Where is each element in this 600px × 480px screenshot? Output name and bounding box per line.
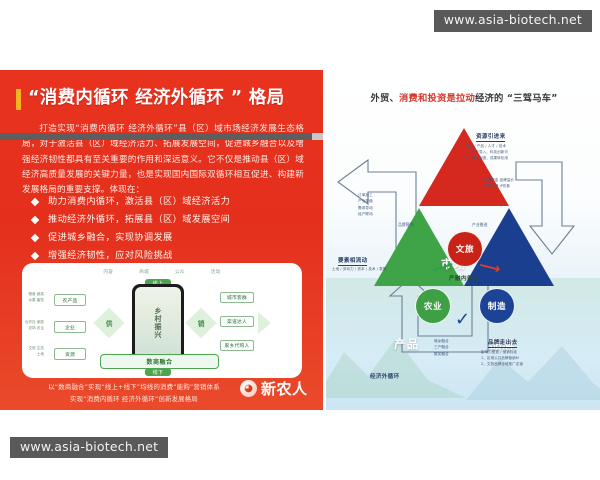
list-item-label: 促进城乡融合，实现协调发展: [48, 232, 173, 243]
headline-highlight: 消费和投资是拉动: [399, 93, 475, 104]
diagram-left-tag: 文旅 生态 土地: [24, 346, 44, 357]
diagram-tab: 公众: [175, 269, 185, 275]
diamond-bullet-icon: [31, 215, 39, 223]
page-title: “消费内循环 经济外循环 ” 格局: [28, 90, 284, 108]
list-item: 推动经济外循环，拓展县（区）域发展空间: [32, 214, 312, 225]
diagram-left-tag: 合作社 家庭 农场 农企: [24, 320, 44, 331]
phone-mockup: 乡村振兴: [132, 284, 184, 362]
diagram-left-box: 资源: [54, 348, 86, 360]
diagram-tab: 内容: [103, 269, 113, 275]
left-red-slide-panel: “消费内循环 经济外循环 ” 格局 打造实现“消费内循环 经济外循环”县（区）域…: [0, 70, 323, 410]
supply-demand-diagram-card: 内容 商城 公众 活动 粮食 蔬菜 水果 畜牧 合作社 家庭 农场 农企 文旅 …: [22, 263, 302, 378]
integration-banner: 数商融合: [100, 354, 219, 369]
annotation-product-push: 产业推进: [472, 222, 488, 229]
phone-screen: 乡村振兴: [135, 287, 181, 359]
watermark-top: www.asia-biotech.net: [434, 10, 592, 32]
node-agriculture: 农业: [415, 288, 451, 324]
annotation-brand-values: 金融资金 品牌溢价 品质品牌 IP形象: [484, 178, 586, 190]
diagram-tab-row: 内容 商城 公众 活动: [22, 267, 302, 276]
diamond-bullet-icon: [31, 251, 39, 259]
offline-pill: 线下: [145, 368, 171, 376]
diagram-left-tag: 粮食 蔬菜 水果 畜牧: [24, 292, 44, 303]
diamond-bullet-icon: [31, 233, 39, 241]
weibo-icon: ◕: [240, 380, 257, 397]
diagram-left-box: 农产品: [54, 294, 86, 306]
annotation-brand-out-sub: 影响力塑造 / 营销标准 1、区域公共品牌营销M 2、文旅品牌全域推广定销: [481, 350, 593, 368]
node-manufacturing: 制造: [479, 288, 515, 324]
diagram-right-box: 家乡代购人: [220, 340, 254, 351]
center-label-internal-circulation: 产融内循环: [430, 274, 498, 282]
annotation-resource-in-sub: 清水 / 产品 / 人才 / 技术 1、产业导入、科技创新可 2、结业制造、成果…: [466, 144, 586, 162]
footer-caption: 以“数商融合”实现“线上+线下”均线的消费“能购”营销体系 实现“消费内循环 经…: [20, 382, 248, 406]
diagram-right-box: 城市客群: [220, 292, 254, 303]
headline-part-1: 外贸、: [370, 93, 399, 104]
demand-node: 销: [185, 307, 216, 338]
annotation-order-chain: 订单加工 产业增值 需求导动 经产联动: [358, 192, 388, 218]
demand-label: 销: [198, 318, 205, 328]
annotation-urban-rural: 城乡融合 三产融合 数实融合: [434, 338, 464, 357]
list-item-label: 推动经济外循环，拓展县（区）域发展空间: [48, 214, 230, 225]
triangle-label-product: 产品: [394, 336, 419, 352]
headline-part-2: 经济的 “三驾马车”: [475, 93, 558, 104]
diagram-tab: 活动: [211, 269, 221, 275]
supply-node: 供: [93, 307, 124, 338]
integration-label: 数商融合: [146, 357, 172, 366]
blue-check-arrow-icon: ✓: [455, 311, 470, 329]
list-item-label: 增强经济韧性，应对风险挑战: [48, 250, 173, 261]
flow-arrow-icon: [258, 312, 271, 334]
footer-caption-line1: 以“数商融合”实现“线上+线下”均线的消费“能购”营销体系: [20, 382, 248, 394]
weibo-brand-badge: ◕ 新农人: [240, 378, 308, 399]
node-culture-tourism: 文旅: [447, 231, 483, 267]
bullet-list: 助力消费内循环，激活县（区）域经济活力 推动经济外循环，拓展县（区）域发展空间 …: [32, 196, 312, 268]
list-item-label: 助力消费内循环，激活县（区）域经济活力: [48, 196, 230, 207]
footer-caption-line2: 实现“消费内循环 经济外循环”创新发展格局: [20, 394, 248, 406]
right-panel-headline: 外贸、消费和投资是拉动经济的 “三驾马车”: [338, 90, 590, 104]
list-item: 促进城乡融合，实现协调发展: [32, 232, 312, 243]
right-infographic-panel: 外贸、消费和投资是拉动经济的 “三驾马车” 市场 产品 品牌 ⟶ ⟶ ✓ 文旅: [326, 70, 600, 410]
phone-screen-text: 乡村振兴: [153, 307, 163, 339]
diamond-bullet-icon: [31, 197, 39, 205]
panel-top-gray-strip: [0, 133, 312, 140]
watermark-bottom: www.asia-biotech.net: [10, 437, 168, 459]
title-accent-bar: [16, 89, 21, 110]
panel-top-gray-strip-cap: [312, 133, 323, 140]
annotation-factors-flow-title: 要素相流动: [338, 256, 367, 266]
list-item: 增强经济韧性，应对风险挑战: [32, 250, 312, 261]
diagram-body: 粮食 蔬菜 水果 畜牧 合作社 家庭 农场 农企 文旅 生态 土地 农产品 企业…: [22, 276, 302, 378]
diagram-tab: 商城: [139, 269, 149, 275]
diagram-right-box: 渠道达人: [220, 316, 254, 327]
annotation-factors-flow-sub: 土地 / 劳动力 / 资本 / 技术 / 数据: [332, 267, 412, 273]
annotation-economy-external-circulation: 经济外循环: [370, 372, 399, 380]
screenshot-canvas: “消费内循环 经济外循环 ” 格局 打造实现“消费内循环 经济外循环”县（区）域…: [0, 0, 600, 480]
annotation-brand-marketing: 品牌营销: [398, 222, 414, 229]
supply-label: 供: [106, 318, 113, 328]
annotation-brand-out-title: 品牌走出去: [488, 338, 517, 348]
brand-name: 新农人: [261, 378, 308, 399]
annotation-resource-in-title: 资源引进来: [476, 132, 505, 142]
list-item: 助力消费内循环，激活县（区）域经济活力: [32, 196, 312, 207]
panel-title: “消费内循环 经济外循环 ” 格局: [16, 86, 316, 112]
diagram-left-box: 企业: [54, 321, 86, 333]
